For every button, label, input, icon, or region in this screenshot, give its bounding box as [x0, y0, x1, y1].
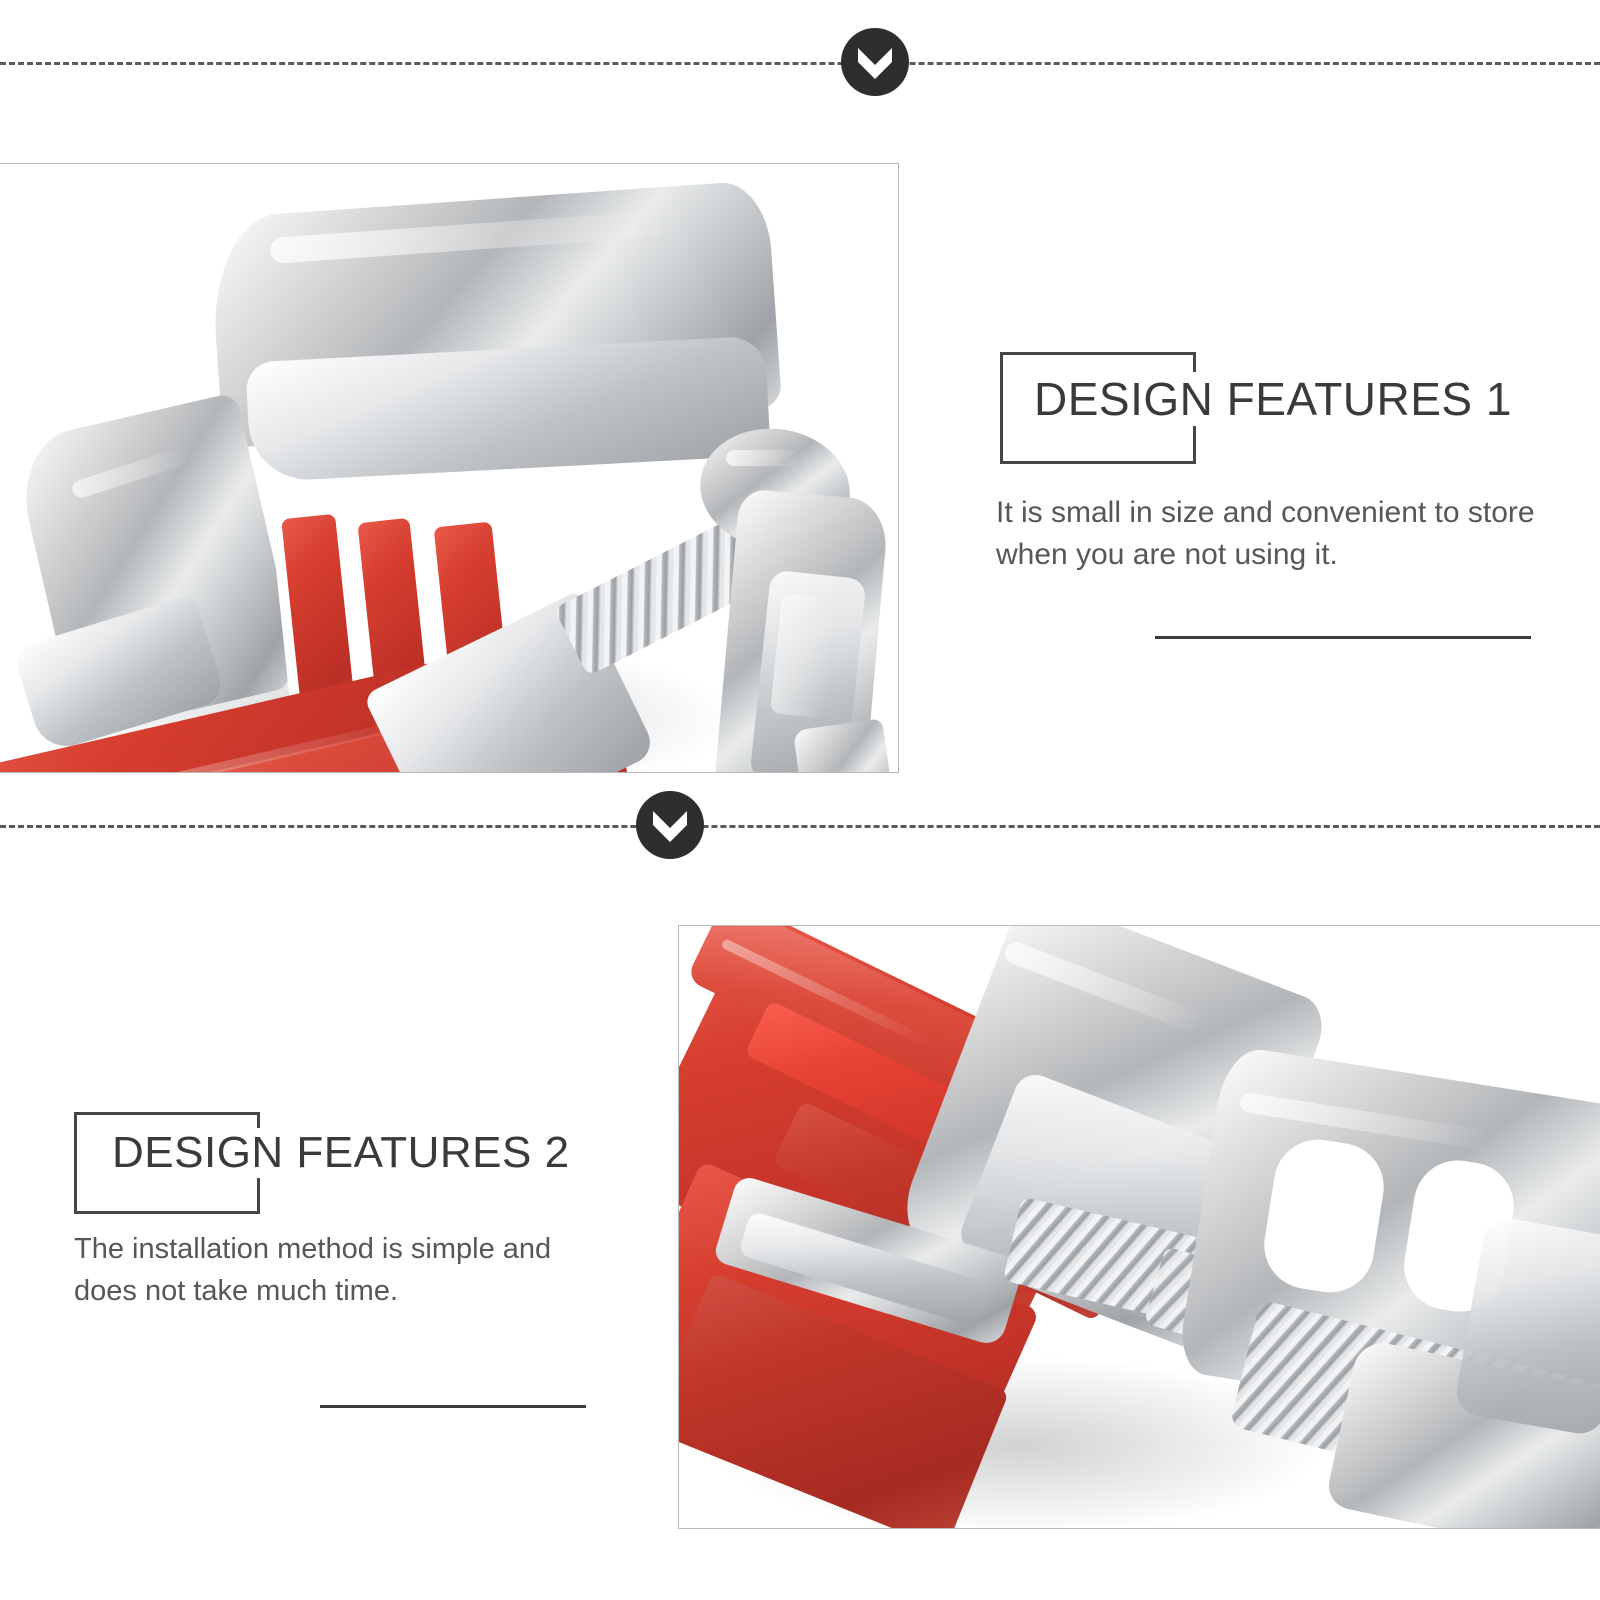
- feature-2-title: DESIGN FEATURES 2: [106, 1128, 576, 1178]
- feature-1-photo: [0, 163, 899, 773]
- feature-2-rule: [320, 1405, 586, 1408]
- middle-divider-line: [0, 825, 1600, 828]
- product-feature-page: DESIGN FEATURES 1 It is small in size an…: [0, 0, 1600, 1600]
- top-divider-badge: [841, 28, 909, 96]
- feature-1-rule: [1155, 636, 1531, 639]
- feature-1-description: It is small in size and convenient to st…: [996, 492, 1556, 576]
- middle-divider-badge: [636, 791, 704, 859]
- feature-1-title: DESIGN FEATURES 1: [1028, 372, 1518, 426]
- top-divider-line: [0, 62, 1600, 65]
- chevron-down-icon: [650, 808, 690, 842]
- feature-2-description: The installation method is simple and do…: [74, 1228, 594, 1312]
- chevron-down-icon: [855, 45, 895, 79]
- feature-2-photo: [678, 925, 1600, 1529]
